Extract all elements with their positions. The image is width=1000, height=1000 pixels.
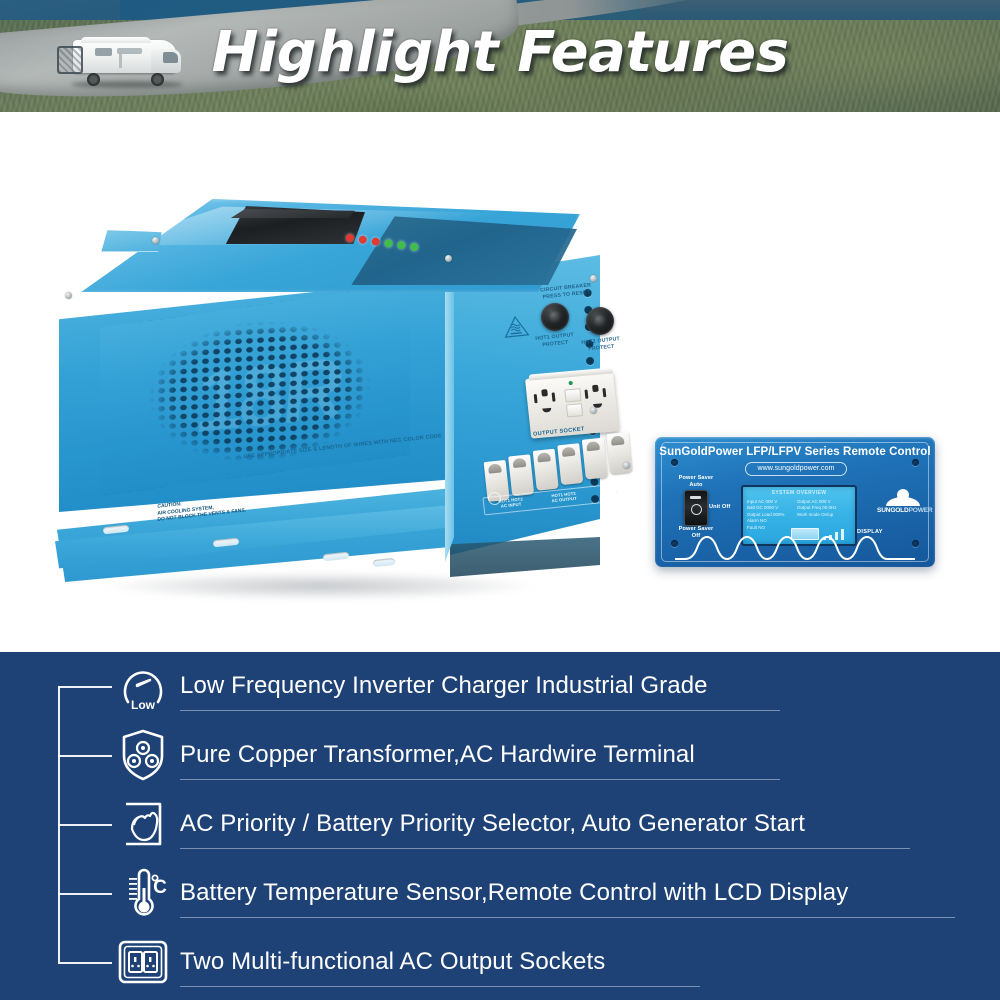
- feature-item-temp-sensor[interactable]: C Battery Temperature Sensor,Remote Cont…: [112, 863, 992, 923]
- chassis-screw: [445, 255, 452, 262]
- inverter-shadow: [105, 572, 535, 600]
- feature-underline: [180, 986, 700, 988]
- outlet-right[interactable]: [581, 379, 615, 425]
- chassis-screw: [590, 275, 597, 282]
- terminal: [508, 454, 534, 496]
- side-vent-hole: [586, 357, 594, 365]
- shield-coils-icon: [112, 726, 174, 784]
- feature-text-wrap: Low Frequency Inverter Charger Industria…: [174, 672, 992, 700]
- sunrise-icon: [886, 489, 920, 506]
- chassis-screw: [623, 462, 630, 469]
- hand-touch-icon: [112, 795, 174, 853]
- outlet-slot: [592, 385, 599, 392]
- lcd-work-mode: Work mode On/up: [797, 512, 851, 518]
- lcd-readout-rows: Input AC 000 V Output AC 000 V Batt DC 0…: [747, 499, 851, 531]
- feature-text-wrap: Two Multi-functional AC Output Sockets: [174, 948, 992, 976]
- gfci-test-reset-buttons[interactable]: [564, 388, 581, 415]
- terminal-label-neutral: N: [590, 487, 644, 497]
- gfci-reset-button[interactable]: [564, 388, 581, 402]
- bracket-branch: [58, 686, 112, 688]
- terminal-label-ac-input: HOT1 HOT2 AC INPUT: [484, 496, 538, 511]
- sungold-logo: SUNGOLDPOWER: [877, 489, 929, 514]
- feature-text-wrap: Pure Copper Transformer,AC Hardwire Term…: [174, 741, 992, 769]
- remote-website-url: www.sungoldpower.com: [745, 462, 847, 476]
- gauge-low-caption: Low: [131, 698, 156, 712]
- feature-item-low-frequency[interactable]: Low Low Frequency Inverter Charger Indus…: [112, 656, 992, 716]
- power-saver-auto-label: Power Saver Auto: [673, 475, 719, 489]
- terminal: [533, 449, 559, 491]
- mount-slot: [373, 558, 396, 567]
- feature-underline: [180, 779, 780, 781]
- chassis-screw: [590, 407, 597, 414]
- terminal: [557, 443, 583, 485]
- feature-label: AC Priority / Battery Priority Selector,…: [180, 810, 992, 838]
- feature-underline: [180, 917, 955, 919]
- outlet-slot: [602, 388, 606, 397]
- chassis-screw: [65, 292, 72, 299]
- thermometer-c-icon: C: [112, 864, 174, 922]
- power-saver-rocker-switch[interactable]: [684, 490, 708, 526]
- hot2-breaker-button[interactable]: [586, 307, 614, 335]
- mounting-hole: [912, 459, 919, 466]
- feature-underline: [180, 848, 910, 850]
- unit-off-label: Unit Off: [709, 504, 739, 511]
- lcd-title: SYSTEM OVERVIEW: [743, 490, 855, 496]
- lcd-fault: Fault NO: [747, 525, 797, 531]
- pure-sine-wave-graphic: [675, 535, 915, 561]
- inverter-product-image: 18R: [45, 197, 620, 627]
- feature-text-wrap: Battery Temperature Sensor,Remote Contro…: [174, 879, 992, 907]
- feature-item-ac-priority[interactable]: AC Priority / Battery Priority Selector,…: [112, 794, 992, 854]
- remote-control-panel: SunGoldPower LFP/LFPV Series Remote Cont…: [655, 437, 935, 567]
- led-green: [397, 241, 406, 250]
- feature-text-wrap: AC Priority / Battery Priority Selector,…: [174, 810, 992, 838]
- bracket-branch: [58, 755, 112, 757]
- feature-label: Battery Temperature Sensor,Remote Contro…: [180, 879, 992, 907]
- chassis-screw: [152, 237, 159, 244]
- feature-underline: [180, 710, 780, 712]
- outlet-slot: [534, 394, 538, 403]
- header-banner: Highlight Features: [0, 0, 1000, 112]
- mount-slot: [323, 552, 350, 562]
- gfci-indicator-led: [568, 381, 572, 385]
- outlet-ground: [542, 408, 551, 413]
- terminal-label-ac-output: HOT1 HOT2 AC OUTPUT: [537, 490, 591, 505]
- outlet-left[interactable]: [530, 383, 564, 429]
- feature-label: Two Multi-functional AC Output Sockets: [180, 948, 992, 976]
- gfci-test-button[interactable]: [566, 403, 583, 417]
- features-panel: Low Low Frequency Inverter Charger Indus…: [0, 652, 1000, 1000]
- mounting-hole: [671, 459, 678, 466]
- bracket-branch: [58, 893, 112, 895]
- outlet-slot: [584, 390, 588, 399]
- feature-label: Pure Copper Transformer,AC Hardwire Term…: [180, 741, 992, 769]
- inverter-corner-edge: [445, 252, 454, 562]
- celsius-caption: C: [153, 877, 167, 898]
- outlet-slot: [552, 392, 556, 401]
- led-red: [345, 233, 354, 242]
- bracket-branch: [58, 962, 112, 964]
- product-showcase: 18R: [0, 112, 1000, 652]
- product-feature-banner: Highlight Features 18R: [0, 0, 1000, 1000]
- feature-label: Low Frequency Inverter Charger Industria…: [180, 672, 992, 700]
- bracket-branch: [58, 824, 112, 826]
- hot-surface-warning-icon: [502, 314, 530, 340]
- ac-sockets-icon: [112, 933, 174, 991]
- led-red: [358, 235, 367, 244]
- terminal: [582, 438, 608, 480]
- remote-title: SunGoldPower LFP/LFPV Series Remote Cont…: [655, 446, 935, 458]
- led-green: [384, 239, 393, 248]
- outlet-slot: [541, 389, 548, 396]
- gauge-low-icon: Low: [112, 657, 174, 715]
- feature-item-ac-sockets[interactable]: Two Multi-functional AC Output Sockets: [112, 932, 992, 992]
- led-red: [371, 237, 380, 246]
- page-title: Highlight Features: [0, 20, 1000, 85]
- feature-item-pure-copper[interactable]: Pure Copper Transformer,AC Hardwire Term…: [112, 725, 992, 785]
- led-green: [410, 242, 419, 251]
- hot1-breaker-button[interactable]: [541, 303, 569, 331]
- brand-text: SUNGOLDPOWER: [877, 507, 929, 514]
